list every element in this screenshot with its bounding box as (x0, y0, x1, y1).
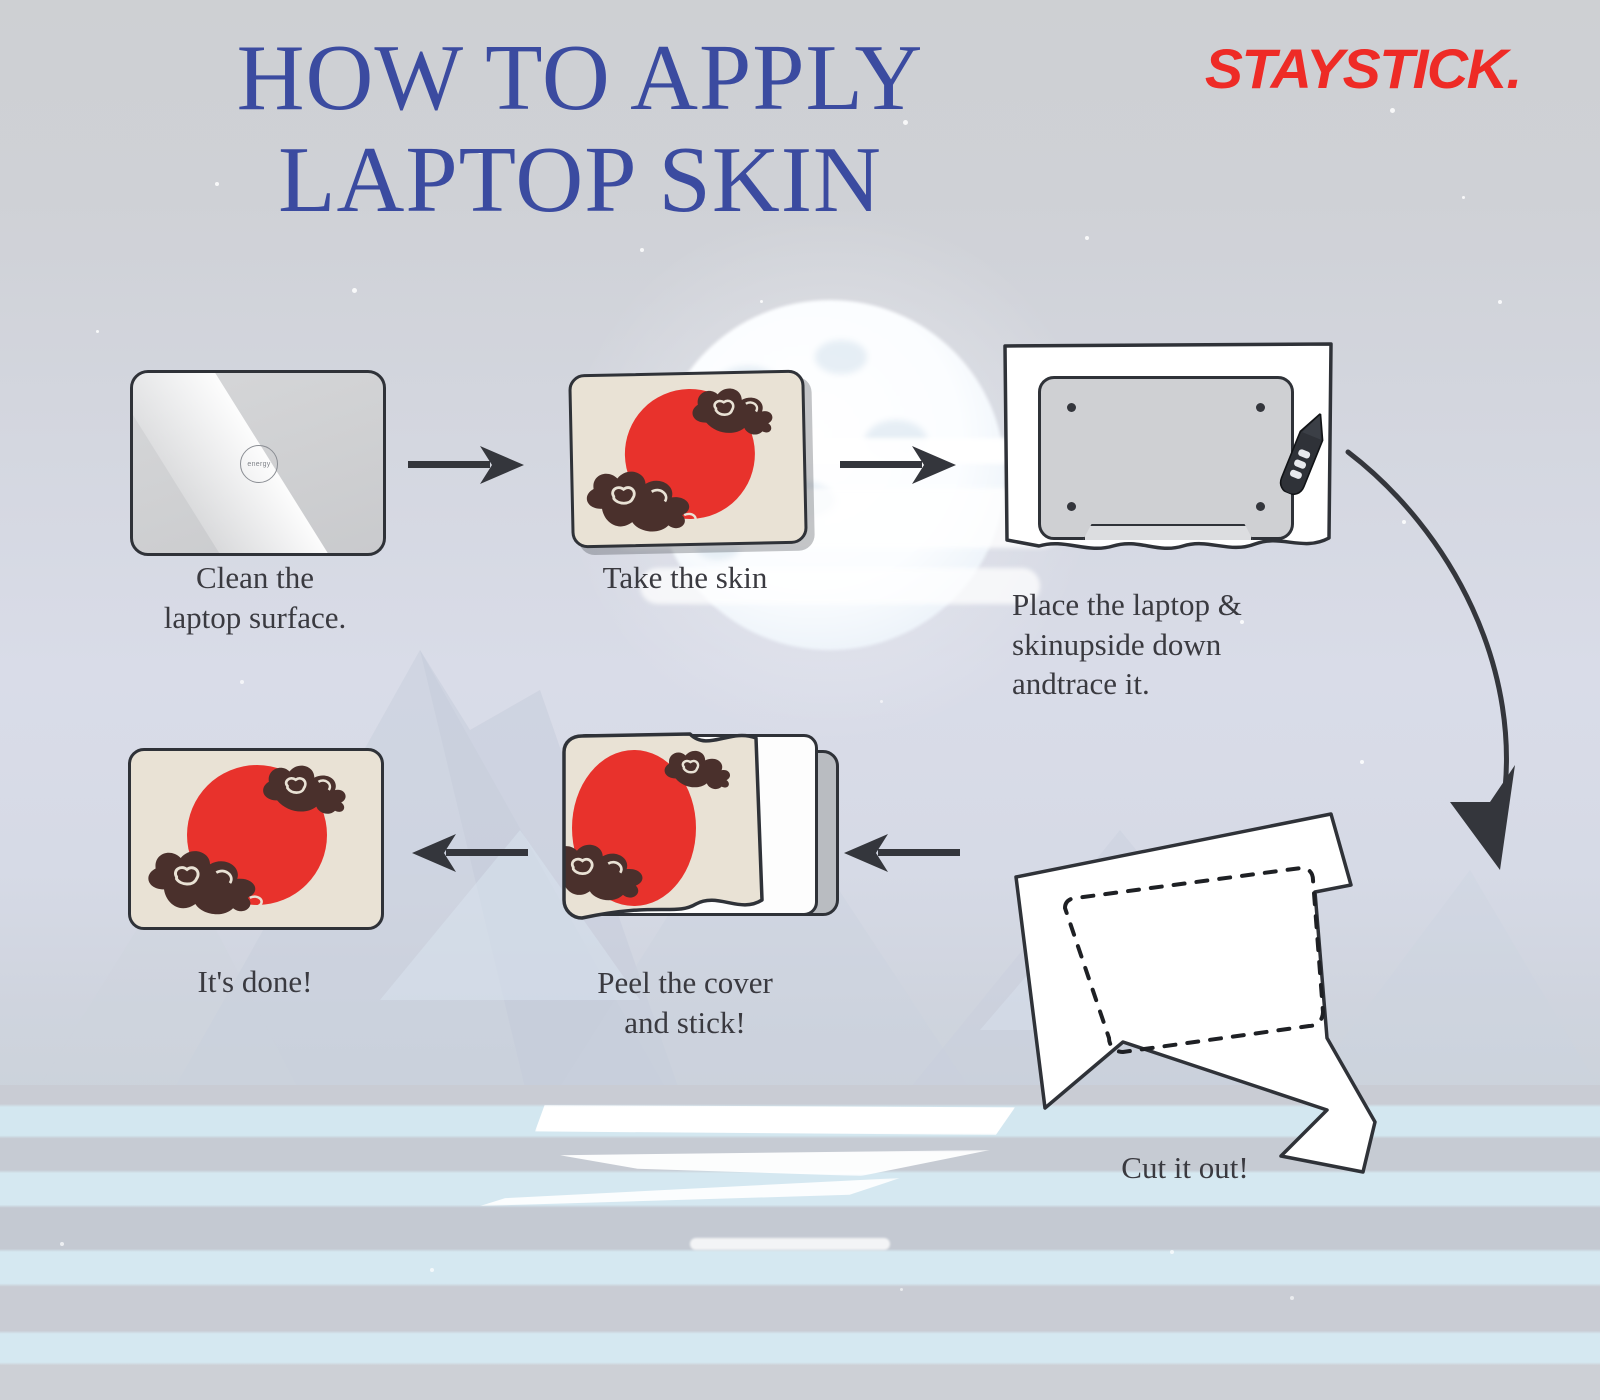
moon-reflection (535, 1105, 1015, 1135)
cloud-motif-icon (579, 461, 711, 540)
step-its-done-caption: It's done! (85, 962, 425, 1002)
step-place-and-trace-caption: Place the laptop & skinupside down andtr… (1012, 585, 1342, 704)
rubber-foot-icon (1067, 502, 1076, 511)
hinge-vent (1083, 524, 1253, 540)
page-title: HOW TO APPLY LAPTOP SKIN (0, 28, 1160, 231)
rubber-foot-icon (1256, 502, 1265, 511)
skin-layer-peeling (548, 732, 800, 924)
arrow-5-to-6 (408, 828, 528, 883)
cloud-motif-icon (141, 841, 277, 921)
step-take-skin-illustration[interactable] (568, 370, 808, 549)
brand-logo: STAYSTICK. (1205, 36, 1521, 101)
step-cut-it-out-caption: Cut it out! (1020, 1148, 1350, 1188)
step-cut-it-out-illustration[interactable] (975, 780, 1405, 1185)
moon-reflection (690, 1238, 890, 1250)
step-its-done-illustration[interactable] (128, 748, 384, 930)
rubber-foot-icon (1067, 403, 1076, 412)
step-peel-and-stick-illustration[interactable] (548, 718, 858, 933)
step-clean-surface-caption: Clean the laptop surface. (85, 558, 425, 637)
protective-film-shine (130, 370, 330, 556)
cloud-motif-icon (681, 379, 782, 441)
laptop-brand-logo-icon: energy (240, 445, 278, 483)
infographic-canvas: HOW TO APPLY LAPTOP SKIN STAYSTICK. ener… (0, 0, 1600, 1400)
rubber-foot-icon (1256, 403, 1265, 412)
step-peel-and-stick-caption: Peel the cover and stick! (520, 963, 850, 1042)
arrow-2-to-3 (840, 440, 960, 495)
arrow-1-to-2 (408, 440, 528, 495)
step-take-skin-caption: Take the skin (520, 558, 850, 598)
arrow-4-to-5 (840, 828, 960, 883)
laptop-underside (1038, 376, 1294, 540)
cloud-motif-icon (251, 757, 357, 819)
step-clean-surface-illustration[interactable]: energy (130, 370, 386, 556)
